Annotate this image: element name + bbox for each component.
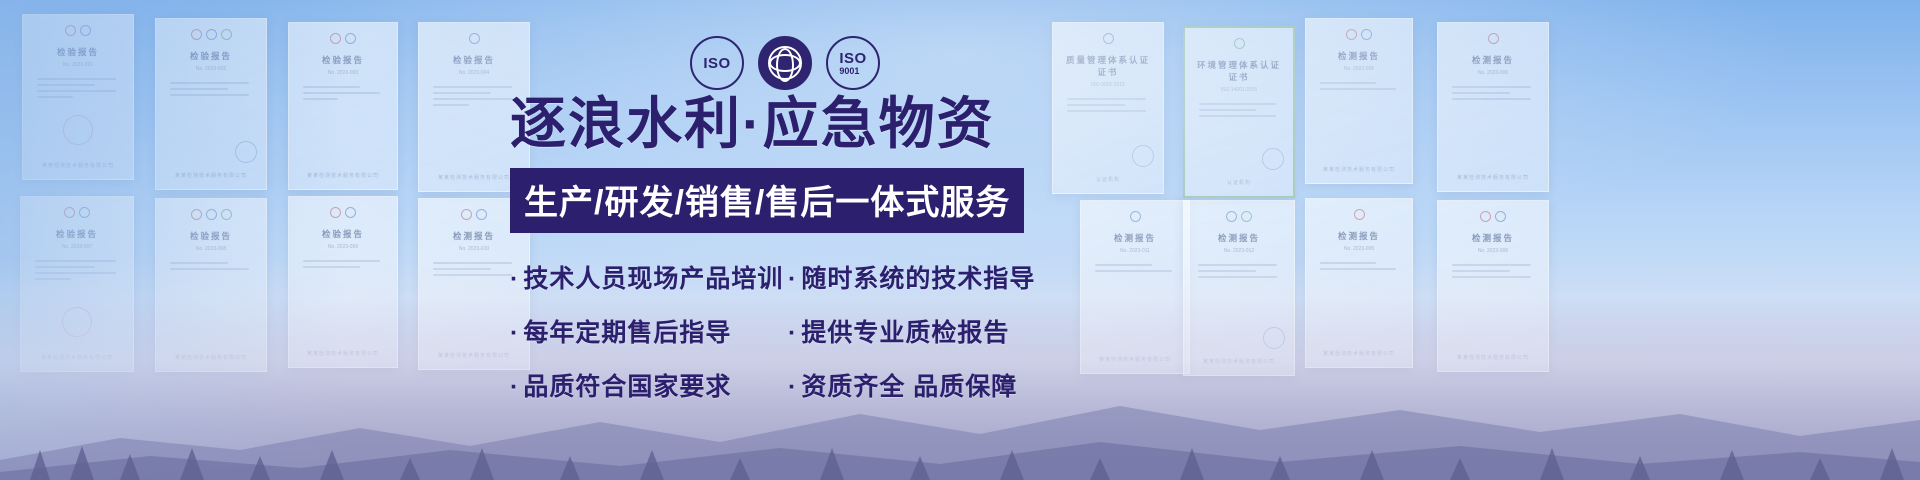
feature-bullet-label: 资质齐全 品质保障 — [801, 373, 1017, 401]
seal-icon — [1241, 211, 1252, 222]
seal-icon — [64, 207, 75, 218]
certificate-footer: 某某检测技术服务有限公司 — [1438, 174, 1548, 181]
certificate-subtitle: No. 2023-009 — [297, 244, 389, 250]
feature-bullet-label: 提供专业质检报告 — [801, 319, 1009, 347]
feature-bullet: ·随时系统的技术指导 — [788, 259, 1070, 295]
certificate-subtitle: No. 2023-005 — [1314, 66, 1404, 72]
banner-content: 逐浪水利·应急物资 生产/研发/销售/售后一体式服务 ·技术人员现场产品培训 ·… — [510, 96, 1070, 403]
feature-bullet: ·每年定期售后指导 — [510, 313, 788, 349]
badge-icon — [1262, 148, 1284, 170]
stamp-icon — [60, 112, 96, 148]
seal-icon — [65, 25, 76, 36]
seal-icon — [330, 207, 341, 218]
seal-icon — [469, 33, 480, 44]
certificate-title: 检测报告 — [1089, 232, 1181, 244]
seal-icon — [80, 25, 91, 36]
certificate-title: 检验报告 — [297, 54, 389, 66]
certificate-card: 检验报告 No. 2023-003 某某检测技术服务有限公司 — [288, 22, 398, 190]
certificate-subtitle: ISO 14001:2015 — [1193, 87, 1285, 93]
certificate-title: 检验报告 — [427, 54, 521, 66]
seal-icon — [221, 29, 232, 40]
certificate-title: 检测报告 — [1446, 54, 1540, 66]
seal-icon — [1103, 33, 1114, 44]
certificate-title: 检验报告 — [297, 228, 389, 240]
bullet-dot-icon: · — [788, 319, 797, 347]
stamp-icon — [59, 304, 95, 340]
bullet-dot-icon: · — [510, 373, 519, 401]
certificate-footer: 某某检测技术服务有限公司 — [289, 350, 397, 357]
bullet-dot-icon: · — [788, 265, 797, 293]
iso-badge: ISO — [690, 36, 744, 90]
globe-icon — [768, 46, 802, 80]
seal-icon — [1234, 38, 1245, 49]
certificate-footer: 某某检测技术服务有限公司 — [21, 354, 133, 361]
promotional-banner: 检验报告 No. 2023-001 某某检测技术服务有限公司 检验报告 No. … — [0, 0, 1920, 480]
certificate-subtitle: ISO 9001:2015 — [1061, 82, 1155, 88]
feature-bullet-label: 品质符合国家要求 — [523, 373, 731, 401]
certificate-title: 检测报告 — [1314, 230, 1404, 242]
certificate-title: 环境管理体系认证证书 — [1193, 59, 1285, 83]
certificate-title: 检验报告 — [31, 46, 125, 58]
feature-bullet-list: ·技术人员现场产品培训 ·随时系统的技术指导 ·每年定期售后指导 ·提供专业质检… — [510, 259, 1070, 403]
certificate-subtitle: No. 2023-008 — [164, 246, 258, 252]
certificate-card: 检测报告 No. 2023-005 某某检测技术服务有限公司 — [1305, 198, 1413, 368]
certificate-title: 检验报告 — [164, 50, 258, 62]
certificate-footer: 某某检测技术服务有限公司 — [23, 162, 133, 169]
certificate-card: 检测报告 No. 2023-011 某某检测技术服务有限公司 — [1080, 200, 1190, 374]
seal-icon — [1495, 211, 1506, 222]
certificate-subtitle: No. 2023-004 — [427, 70, 521, 76]
seal-icon — [345, 207, 356, 218]
feature-bullet-label: 技术人员现场产品培训 — [523, 265, 783, 293]
seal-icon — [206, 209, 217, 220]
certificate-footer: 某某检测技术服务有限公司 — [156, 354, 266, 361]
certificate-subtitle: No. 2023-002 — [164, 66, 258, 72]
certificate-subtitle: No. 2023-011 — [1089, 248, 1181, 254]
certificate-subtitle: No. 2023-010 — [427, 246, 521, 252]
certificate-subtitle: No. 2023-012 — [1192, 248, 1286, 254]
certificate-subtitle: No. 2023-006 — [1446, 248, 1540, 254]
seal-icon — [1130, 211, 1141, 222]
certificate-footer: 某某检测技术服务有限公司 — [1306, 350, 1412, 357]
certificate-title: 检验报告 — [164, 230, 258, 242]
certificate-card: 检验报告 No. 2023-007 某某检测技术服务有限公司 — [20, 196, 134, 372]
iso-9001-badge: ISO9001 — [826, 36, 880, 90]
certificate-title: 质量管理体系认证证书 — [1061, 54, 1155, 78]
certificate-card: 检验报告 No. 2023-008 某某检测技术服务有限公司 — [155, 198, 267, 372]
bullet-dot-icon: · — [510, 319, 519, 347]
certificate-footer: 某某检测技术服务有限公司 — [156, 172, 266, 179]
seal-icon — [330, 33, 341, 44]
feature-bullet-label: 随时系统的技术指导 — [801, 265, 1035, 293]
certificate-subtitle: No. 2023-003 — [297, 70, 389, 76]
seal-icon — [1226, 211, 1237, 222]
iso-9001-badge-label: ISO9001 — [839, 51, 866, 76]
feature-bullet: ·资质齐全 品质保障 — [788, 367, 1070, 403]
certificate-subtitle: No. 2023-001 — [31, 62, 125, 68]
seal-icon — [476, 209, 487, 220]
quality-emblem-badge — [758, 36, 812, 90]
certificate-title: 检测报告 — [1446, 232, 1540, 244]
certificate-footer: 某某检测技术服务有限公司 — [1184, 358, 1294, 365]
certificate-title: 检测报告 — [427, 230, 521, 242]
certificate-title: 检测报告 — [1314, 50, 1404, 62]
certificate-card: 检验报告 No. 2023-002 某某检测技术服务有限公司 — [155, 18, 267, 190]
certificate-footer: 某某检测技术服务有限公司 — [1081, 356, 1189, 363]
seal-icon — [1488, 33, 1499, 44]
seal-icon — [206, 29, 217, 40]
certificate-subtitle: No. 2023-006 — [1446, 70, 1540, 76]
certificate-card: 检验报告 No. 2023-001 某某检测技术服务有限公司 — [22, 14, 134, 180]
seal-icon — [221, 209, 232, 220]
seal-icon — [191, 29, 202, 40]
seal-icon — [1361, 29, 1372, 40]
iso-badge-label: ISO — [703, 56, 730, 71]
certification-badges: ISO ISO9001 — [690, 32, 880, 94]
certificate-card: 检测报告 No. 2023-012 某某检测技术服务有限公司 — [1183, 200, 1295, 376]
seal-icon — [345, 33, 356, 44]
bullet-dot-icon: · — [510, 265, 519, 293]
certificate-card: 环境管理体系认证证书 ISO 14001:2015 认证机构 — [1183, 26, 1295, 198]
feature-bullet: ·提供专业质检报告 — [788, 313, 1070, 349]
seal-icon — [191, 209, 202, 220]
certificate-card: 检测报告 No. 2023-006 某某检测技术服务有限公司 — [1437, 22, 1549, 192]
badge-icon — [1132, 145, 1154, 167]
certificate-footer: 某某检测技术服务有限公司 — [1438, 354, 1548, 361]
certificate-title: 检验报告 — [29, 228, 125, 240]
certificate-title: 检测报告 — [1192, 232, 1286, 244]
seal-icon — [461, 209, 472, 220]
feature-bullet: ·品质符合国家要求 — [510, 367, 788, 403]
seal-icon — [1346, 29, 1357, 40]
seal-icon — [1480, 211, 1491, 222]
banner-subtitle-bar: 生产/研发/销售/售后一体式服务 — [510, 168, 1024, 233]
certificate-card: 检测报告 No. 2023-005 某某检测技术服务有限公司 — [1305, 18, 1413, 184]
bullet-dot-icon: · — [788, 373, 797, 401]
certificate-subtitle: No. 2023-005 — [1314, 246, 1404, 252]
feature-bullet: ·技术人员现场产品培训 — [510, 259, 788, 295]
feature-bullet-label: 每年定期售后指导 — [523, 319, 731, 347]
seal-icon — [1354, 209, 1365, 220]
certificate-card: 检测报告 No. 2023-006 某某检测技术服务有限公司 — [1437, 200, 1549, 372]
badge-icon — [235, 141, 257, 163]
certificate-footer: 某某检测技术服务有限公司 — [1306, 166, 1412, 173]
banner-headline: 逐浪水利·应急物资 — [510, 96, 1070, 152]
seal-icon — [79, 207, 90, 218]
certificate-card: 检验报告 No. 2023-009 某某检测技术服务有限公司 — [288, 196, 398, 368]
badge-icon — [1263, 327, 1285, 349]
certificate-footer: 某某检测技术服务有限公司 — [289, 172, 397, 179]
certificate-subtitle: No. 2023-007 — [29, 244, 125, 250]
certificate-footer: 认证机构 — [1185, 179, 1293, 186]
